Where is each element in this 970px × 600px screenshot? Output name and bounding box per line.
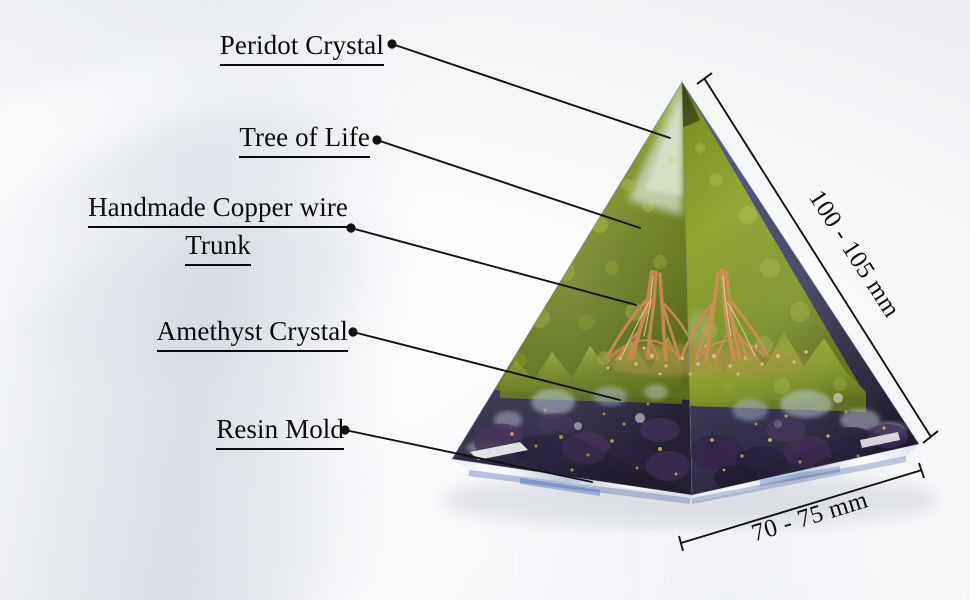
leader-dot-tree-of-life [372,135,381,144]
infographic-canvas: 100 - 105 mm 70 - 75 mm Peridot Crystal … [0,0,970,600]
leader-dot-amethyst [348,327,357,336]
callout-label-copper-trunk: Handmade Copper wire Trunk [88,190,348,266]
leader-line-tree-of-life [377,140,640,228]
callout-text: Amethyst Crystal [157,314,348,352]
dimension-tick-height-bottom [923,431,938,443]
leader-line-peridot [392,44,670,138]
callout-text: Tree of Life [239,120,370,158]
callout-text: Trunk [185,228,251,266]
leader-dot-peridot [387,39,396,48]
callout-label-amethyst: Amethyst Crystal [157,314,348,352]
dimension-tick-height-top [697,73,712,84]
callout-text: Handmade Copper wire [88,190,348,228]
orgonite-pyramid-photo: 100 - 105 mm 70 - 75 mm [0,0,970,600]
callout-label-peridot: Peridot Crystal [220,28,384,66]
callout-label-resin-mold: Resin Mold [216,412,344,450]
callout-text: Peridot Crystal [220,28,384,66]
callout-text: Resin Mold [216,412,344,450]
callout-label-tree-of-life: Tree of Life [239,120,370,158]
